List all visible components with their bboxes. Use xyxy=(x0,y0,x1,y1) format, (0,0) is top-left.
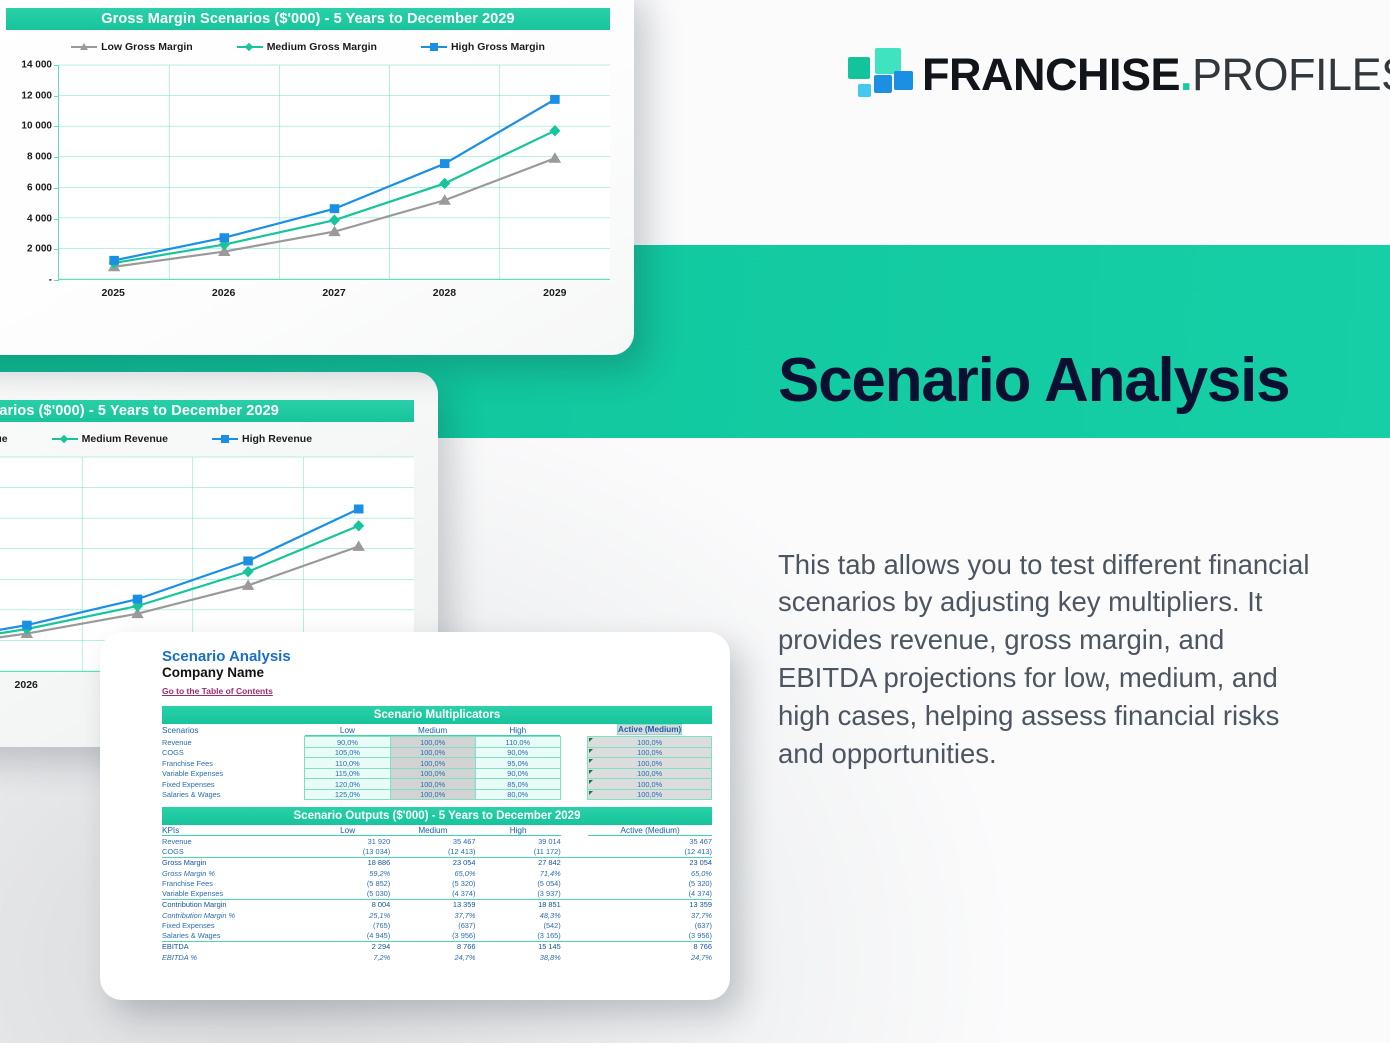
output-row: EBITDA %7,2%24,7%38,8%24,7% xyxy=(162,952,712,963)
cell-active: 100,0% xyxy=(588,789,712,800)
cell-medium: 24,7% xyxy=(390,952,475,963)
gross-margin-x-axis: 20252026202720282029 xyxy=(58,287,610,299)
legend-item-low-revenue: Low Revenue xyxy=(0,433,8,445)
cell-low[interactable]: 120,0% xyxy=(305,779,390,790)
cell-medium[interactable]: 100,0% xyxy=(390,758,475,769)
y-tick-label: 10 000 xyxy=(21,121,52,132)
output-row: Franchise Fees(5 852)(5 320)(5 054)(5 32… xyxy=(162,878,712,889)
logo-squares-icon xyxy=(848,48,906,100)
gross-margin-y-axis: -2 0004 0006 0008 00010 00012 00014 000 xyxy=(6,65,58,280)
multiplicator-row: Revenue90,0%100,0%110,0%100,0% xyxy=(162,737,712,748)
out-column-header-low: Low xyxy=(305,825,390,836)
cell-high[interactable]: 90,0% xyxy=(475,768,560,779)
scenario-analysis-spreadsheet-card: Scenario Analysis Company Name Go to the… xyxy=(100,632,730,1000)
page-title: Scenario Analysis xyxy=(778,350,1289,412)
cell-low: (5 852) xyxy=(305,878,390,889)
multiplicators-header-row: Scenarios Low Medium High Active (Medium… xyxy=(162,724,712,737)
legend-label-medium: Medium Gross Margin xyxy=(267,41,377,53)
row-label: Contribution Margin xyxy=(162,899,305,910)
revenue-chart-legend: Low Revenue Medium Revenue High Revenue xyxy=(0,433,414,445)
cell-low: (765) xyxy=(305,920,390,931)
legend-item-high-revenue: High Revenue xyxy=(212,433,312,445)
square-marker-icon xyxy=(221,435,229,443)
gross-margin-plot-area: -2 0004 0006 0008 00010 00012 00014 000 xyxy=(6,65,610,280)
cell-medium: (637) xyxy=(390,920,475,931)
row-label: Salaries & Wages xyxy=(162,931,305,942)
cell-low: 2 294 xyxy=(305,941,390,952)
row-label: COGS xyxy=(162,747,305,758)
cell-low[interactable]: 90,0% xyxy=(305,737,390,748)
row-label: EBITDA xyxy=(162,941,305,952)
cell-active: (5 320) xyxy=(588,878,712,889)
output-row: Contribution Margin %25,1%37,7%48,3%37,7… xyxy=(162,910,712,921)
cell-medium: 13 359 xyxy=(390,899,475,910)
output-row: EBITDA2 2948 76615 1458 766 xyxy=(162,941,712,952)
scenario-multiplicators-table: Scenarios Low Medium High Active (Medium… xyxy=(162,724,712,800)
cell-high: 48,3% xyxy=(476,910,561,921)
row-label: Franchise Fees xyxy=(162,878,305,889)
y-tick-label: - xyxy=(49,275,52,286)
legend-item-medium-gross-margin: Medium Gross Margin xyxy=(237,41,377,53)
cell-active: (4 374) xyxy=(588,889,712,900)
row-label: Fixed Expenses xyxy=(162,779,305,790)
x-tick-label: 2025 xyxy=(58,287,168,299)
output-row: Gross Margin18 88623 05427 84223 054 xyxy=(162,857,712,868)
gross-margin-chart-card: Gross Margin Scenarios ($'000) - 5 Years… xyxy=(0,0,634,355)
cell-medium[interactable]: 100,0% xyxy=(390,768,475,779)
cell-high: 27 842 xyxy=(476,857,561,868)
page-description: This tab allows you to test different fi… xyxy=(778,546,1323,774)
sheet-title: Scenario Analysis xyxy=(162,648,712,665)
row-label: Gross Margin % xyxy=(162,868,305,879)
cell-low: 18 886 xyxy=(305,857,390,868)
cell-high: (3 937) xyxy=(476,889,561,900)
column-header-low: Low xyxy=(305,725,390,736)
cell-medium[interactable]: 100,0% xyxy=(390,737,475,748)
cell-high[interactable]: 110,0% xyxy=(475,737,560,748)
scenario-multiplicators-band: Scenario Multiplicators xyxy=(162,706,712,724)
y-tick-label: 8 000 xyxy=(27,152,52,163)
out-column-header-medium: Medium xyxy=(390,825,475,836)
cell-active: (3 956) xyxy=(588,931,712,942)
cell-medium: 8 766 xyxy=(390,941,475,952)
franchise-profiles-logo: FRANCHISE.PROFILES xyxy=(848,48,1390,100)
y-tick-label: 6 000 xyxy=(27,182,52,193)
legend-line-high xyxy=(421,46,447,48)
output-row: COGS(13 034)(12 413)(11 172)(12 413) xyxy=(162,847,712,858)
cell-medium[interactable]: 100,0% xyxy=(390,779,475,790)
cell-high[interactable]: 95,0% xyxy=(475,758,560,769)
multiplicators-row-header: Scenarios xyxy=(162,726,198,735)
x-tick-label: 2027 xyxy=(279,287,389,299)
multiplicator-row: COGS105,0%100,0%90,0%100,0% xyxy=(162,747,712,758)
scenario-outputs-table: KPIs Low Medium High Active (Medium) Rev… xyxy=(162,825,712,962)
cell-medium[interactable]: 100,0% xyxy=(390,789,475,800)
gross-margin-chart-legend: Low Gross Margin Medium Gross Margin Hig… xyxy=(6,41,610,53)
cell-active: (637) xyxy=(588,920,712,931)
revenue-chart-title: ue Scenarios ($'000) - 5 Years to Decemb… xyxy=(0,400,414,422)
cell-active: 23 054 xyxy=(588,857,712,868)
multiplicator-row: Variable Expenses115,0%100,0%90,0%100,0% xyxy=(162,768,712,779)
cell-high: (5 054) xyxy=(476,878,561,889)
x-tick-label: 2029 xyxy=(500,287,610,299)
cell-high: (11 172) xyxy=(476,847,561,858)
y-tick-label: 4 000 xyxy=(27,213,52,224)
cell-medium: (5 320) xyxy=(390,878,475,889)
cell-high: 71,4% xyxy=(476,868,561,879)
cell-low: 59,2% xyxy=(305,868,390,879)
legend-item-high-gross-margin: High Gross Margin xyxy=(421,41,545,53)
square-marker-icon xyxy=(430,43,438,51)
row-label: COGS xyxy=(162,847,305,858)
cell-high[interactable]: 85,0% xyxy=(475,779,560,790)
logo-wordmark: FRANCHISE.PROFILES xyxy=(922,52,1390,97)
legend-line-medium xyxy=(237,46,263,48)
row-label: Fixed Expenses xyxy=(162,920,305,931)
row-label: EBITDA % xyxy=(162,952,305,963)
cell-high: 39 014 xyxy=(476,836,561,847)
cell-high: 15 145 xyxy=(476,941,561,952)
row-label: Contribution Margin % xyxy=(162,910,305,921)
legend-line-high-rev xyxy=(212,438,238,440)
cell-high: 38,8% xyxy=(476,952,561,963)
multiplicator-row: Salaries & Wages125,0%100,0%80,0%100,0% xyxy=(162,789,712,800)
cell-medium[interactable]: 100,0% xyxy=(390,747,475,758)
cell-high: 18 851 xyxy=(476,899,561,910)
row-label: Variable Expenses xyxy=(162,768,305,779)
output-row: Fixed Expenses(765)(637)(542)(637) xyxy=(162,920,712,931)
cell-medium: 23 054 xyxy=(390,857,475,868)
table-of-contents-link[interactable]: Go to the Table of Contents xyxy=(162,686,273,696)
cell-active: 65,0% xyxy=(588,868,712,879)
cell-low[interactable]: 105,0% xyxy=(305,747,390,758)
multiplicator-row: Fixed Expenses120,0%100,0%85,0%100,0% xyxy=(162,779,712,790)
outputs-row-header: KPIs xyxy=(162,825,305,836)
cell-low: (4 945) xyxy=(305,931,390,942)
legend-label-low: Low Gross Margin xyxy=(101,41,193,53)
outputs-header-row: KPIs Low Medium High Active (Medium) xyxy=(162,825,712,836)
legend-line-medium-rev xyxy=(52,438,78,440)
cell-medium: 65,0% xyxy=(390,868,475,879)
output-row: Contribution Margin8 00413 35918 85113 3… xyxy=(162,899,712,910)
cell-low[interactable]: 110,0% xyxy=(305,758,390,769)
out-column-header-active: Active (Medium) xyxy=(588,825,712,836)
legend-label-high-rev: High Revenue xyxy=(242,433,312,445)
cell-medium: (3 956) xyxy=(390,931,475,942)
out-column-header-high: High xyxy=(476,825,561,836)
legend-item-low-gross-margin: Low Gross Margin xyxy=(71,41,193,53)
row-label: Franchise Fees xyxy=(162,758,305,769)
cell-low: 8 004 xyxy=(305,899,390,910)
cell-low: (13 034) xyxy=(305,847,390,858)
cell-high: (3 165) xyxy=(476,931,561,942)
cell-low: (5 030) xyxy=(305,889,390,900)
diamond-marker-icon xyxy=(59,435,67,443)
cell-low: 31 920 xyxy=(305,836,390,847)
cell-active: 100,0% xyxy=(588,737,712,748)
logo-word-franchise: FRANCHISE xyxy=(922,49,1180,100)
row-label: Revenue xyxy=(162,836,305,847)
cell-medium: 35 467 xyxy=(390,836,475,847)
cell-medium: (12 413) xyxy=(390,847,475,858)
triangle-marker-icon xyxy=(80,43,88,50)
cell-high[interactable]: 80,0% xyxy=(475,789,560,800)
cell-active: 8 766 xyxy=(588,941,712,952)
y-tick-label: 14 000 xyxy=(21,60,52,71)
legend-label-low-rev: Low Revenue xyxy=(0,433,8,445)
diamond-marker-icon xyxy=(244,43,252,51)
cell-active: 35 467 xyxy=(588,836,712,847)
row-label: Variable Expenses xyxy=(162,889,305,900)
x-tick-label: 2026 xyxy=(168,287,278,299)
cell-active: 100,0% xyxy=(588,768,712,779)
row-label: Gross Margin xyxy=(162,857,305,868)
y-tick-label: 2 000 xyxy=(27,244,52,255)
column-header-medium: Medium xyxy=(390,725,475,736)
cell-low: 25,1% xyxy=(305,910,390,921)
cell-active: 100,0% xyxy=(588,747,712,758)
cell-medium: 37,7% xyxy=(390,910,475,921)
row-label: Salaries & Wages xyxy=(162,789,305,800)
cell-active: (12 413) xyxy=(588,847,712,858)
y-tick-label: 12 000 xyxy=(21,90,52,101)
output-row: Revenue31 92035 46739 01435 467 xyxy=(162,836,712,847)
output-row: Salaries & Wages(4 945)(3 956)(3 165)(3 … xyxy=(162,931,712,942)
gross-margin-plot xyxy=(58,65,610,280)
legend-line-low xyxy=(71,46,97,48)
legend-label-high: High Gross Margin xyxy=(451,41,545,53)
x-tick-label: 2028 xyxy=(389,287,499,299)
cell-active: 100,0% xyxy=(588,758,712,769)
logo-word-profiles: PROFILES xyxy=(1192,49,1390,100)
column-header-active: Active (Medium) xyxy=(617,724,682,735)
cell-active: 13 359 xyxy=(588,899,712,910)
cell-low[interactable]: 115,0% xyxy=(305,768,390,779)
legend-item-medium-revenue: Medium Revenue xyxy=(52,433,168,445)
cell-active: 24,7% xyxy=(588,952,712,963)
cell-low[interactable]: 125,0% xyxy=(305,789,390,800)
gross-margin-chart-title: Gross Margin Scenarios ($'000) - 5 Years… xyxy=(6,8,610,30)
cell-active: 100,0% xyxy=(588,779,712,790)
legend-label-medium-rev: Medium Revenue xyxy=(82,433,168,445)
x-tick-label: 2026 xyxy=(0,679,82,691)
sheet-company-name: Company Name xyxy=(162,665,712,681)
logo-dot: . xyxy=(1180,49,1192,100)
output-row: Gross Margin %59,2%65,0%71,4%65,0% xyxy=(162,868,712,879)
column-header-high: High xyxy=(475,725,560,736)
cell-low: 7,2% xyxy=(305,952,390,963)
cell-medium: (4 374) xyxy=(390,889,475,900)
scenario-outputs-band: Scenario Outputs ($'000) - 5 Years to De… xyxy=(162,807,712,825)
cell-active: 37,7% xyxy=(588,910,712,921)
cell-high[interactable]: 90,0% xyxy=(475,747,560,758)
cell-high: (542) xyxy=(476,920,561,931)
multiplicator-row: Franchise Fees110,0%100,0%95,0%100,0% xyxy=(162,758,712,769)
row-label: Revenue xyxy=(162,737,305,748)
output-row: Variable Expenses(5 030)(4 374)(3 937)(4… xyxy=(162,889,712,900)
